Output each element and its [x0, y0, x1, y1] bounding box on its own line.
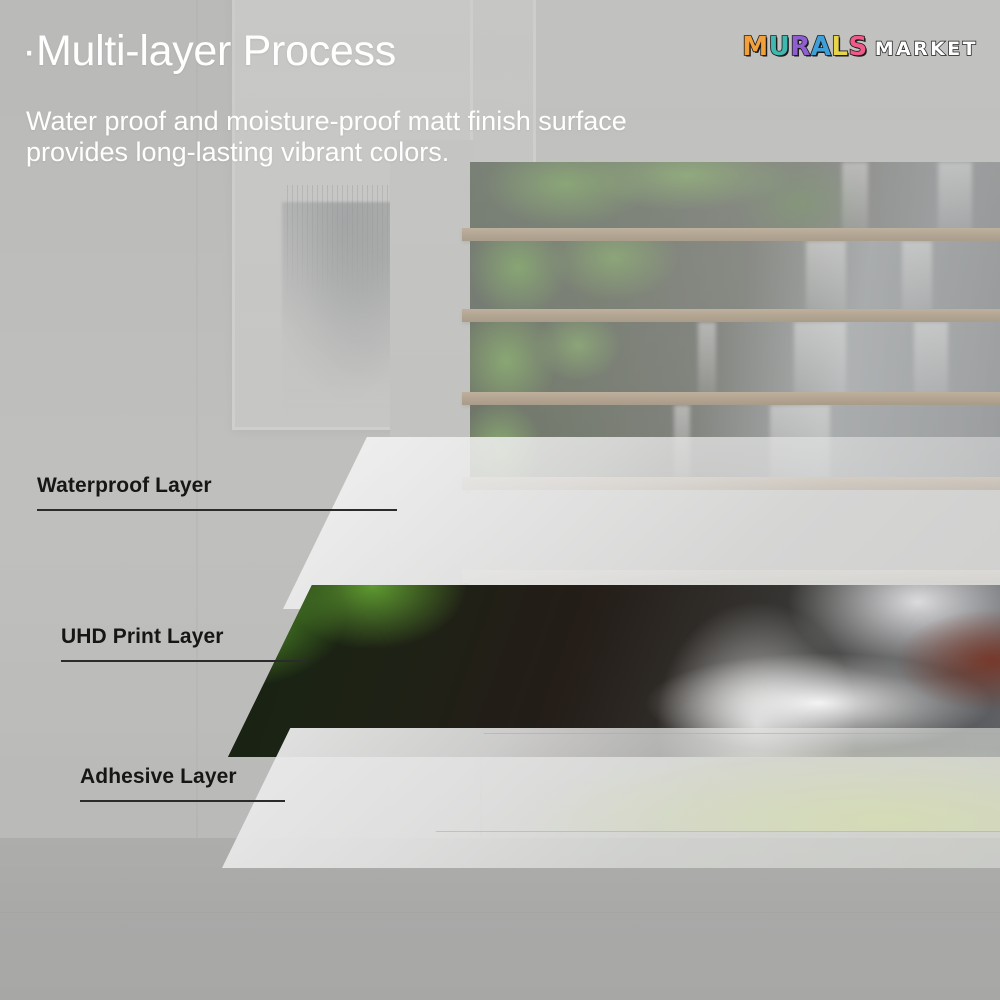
brand-logo-murals: MURALS: [742, 32, 867, 62]
stair-tread: [462, 392, 1000, 405]
layer-label-text: UHD Print Layer: [61, 625, 307, 649]
stair-riser: [470, 241, 1000, 317]
layer-label-uhd-print: UHD Print Layer: [61, 625, 307, 662]
layer-label-text: Adhesive Layer: [80, 765, 285, 789]
layer-plane-adhesive[interactable]: [222, 728, 1000, 868]
layer-label-text: Waterproof Layer: [37, 474, 397, 498]
layer-label-adhesive: Adhesive Layer: [80, 765, 285, 802]
page-title: ·Multi-layer Process: [22, 27, 396, 76]
riser-mural-print: [470, 162, 1000, 236]
brand-logo-letter-a-3: A: [811, 32, 832, 62]
brand-logo-letter-r-2: R: [790, 32, 811, 62]
brand-logo-letter-s-5: S: [848, 32, 867, 62]
page-subtitle: Water proof and moisture-proof matt fini…: [26, 106, 627, 167]
brand-logo[interactable]: MURALS MARKET: [742, 32, 978, 62]
stair-riser: [470, 322, 1000, 400]
layer-label-rule: [61, 660, 307, 662]
waterfall-streak: [806, 241, 846, 317]
stair-tread: [462, 228, 1000, 241]
layer-label-rule: [80, 800, 285, 802]
waterfall-streak: [914, 322, 948, 400]
waterfall-streak: [794, 322, 846, 400]
layer-label-waterproof: Waterproof Layer: [37, 474, 397, 511]
layer-label-rule: [37, 509, 397, 511]
layer-plane-waterproof[interactable]: [283, 437, 1000, 609]
waterfall-streak: [698, 322, 716, 400]
infographic-canvas: Waterproof Layer UHD Print Layer Adhesiv…: [0, 0, 1000, 1000]
waterfall-streak: [938, 162, 972, 236]
brand-logo-letter-u-1: U: [769, 32, 791, 62]
floor-seam: [0, 912, 1000, 913]
brand-logo-market: MARKET: [875, 38, 978, 60]
waterfall-streak: [902, 241, 932, 317]
stair-riser: [470, 162, 1000, 236]
adhesive-edge-line-lower: [436, 831, 1000, 832]
brand-logo-letter-m-0: M: [742, 32, 768, 62]
brand-logo-letter-l-4: L: [831, 32, 848, 62]
waterfall-streak: [842, 162, 868, 236]
stair-tread: [462, 309, 1000, 322]
adhesive-inner-glow: [463, 734, 1000, 832]
